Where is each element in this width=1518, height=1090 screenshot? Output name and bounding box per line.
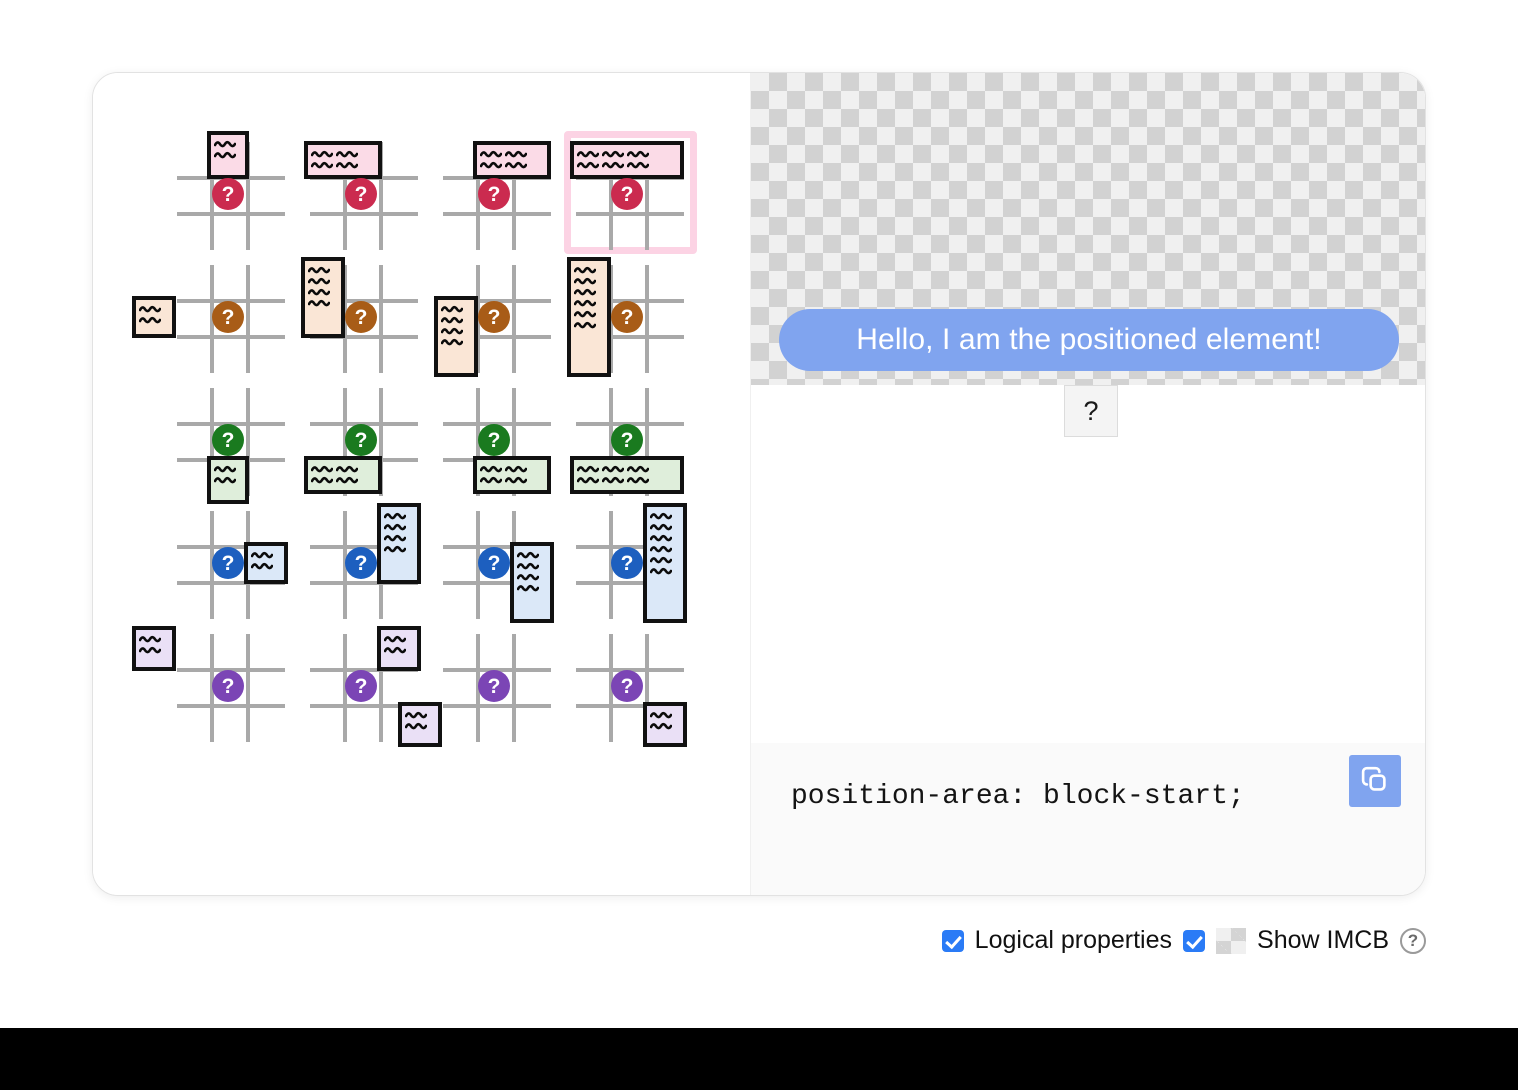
anchor-marker-icon: ? [345, 301, 377, 333]
squiggle-row [574, 265, 596, 275]
squiggle-row [308, 265, 330, 275]
squiggle-row [311, 149, 358, 159]
squiggle-row [308, 298, 330, 308]
squiggle-icon [384, 645, 406, 655]
squiggle-icon [311, 149, 333, 159]
squiggle-icon [139, 634, 161, 644]
picker-row-blue: ???? [165, 500, 697, 623]
squiggle-icon [627, 160, 649, 170]
squiggle-icon [139, 315, 161, 325]
element-box [301, 257, 345, 338]
element-box [207, 456, 249, 504]
element-box [510, 542, 554, 623]
squiggle-icon [336, 475, 358, 485]
squiggle-icon [517, 550, 539, 560]
squiggle-icon [505, 149, 527, 159]
picker-cell-diagram: ? [438, 138, 557, 247]
logical-properties-control[interactable]: Logical properties [942, 926, 1172, 955]
picker-cell-diagram: ? [571, 507, 690, 616]
anchor-marker-icon: ? [611, 670, 643, 702]
copy-icon [1360, 765, 1390, 798]
picker-cell-diagram: ? [305, 384, 424, 493]
squiggle-icon [517, 572, 539, 582]
picker-cell-block-end-span-inline-end[interactable]: ? [431, 377, 564, 500]
anchor-marker-icon: ? [345, 547, 377, 579]
squiggle-icon [214, 464, 236, 474]
squiggle-row [574, 309, 596, 319]
picker-cell-end-start[interactable]: ? [431, 623, 564, 746]
squiggle-row [251, 550, 273, 560]
squiggle-icon [384, 544, 406, 554]
squiggle-icon [336, 160, 358, 170]
grid-line [246, 265, 250, 373]
squiggle-row [384, 533, 406, 543]
anchor-marker-icon: ? [478, 547, 510, 579]
squiggle-row [441, 326, 463, 336]
picker-cell-diagram: ? [571, 138, 690, 247]
picker-cell-diagram: ? [571, 384, 690, 493]
squiggle-row [574, 320, 596, 330]
squiggle-row [517, 550, 539, 560]
squiggle-row [405, 710, 427, 720]
squiggle-icon [139, 304, 161, 314]
anchor-marker-icon: ? [212, 178, 244, 210]
squiggle-icon [577, 160, 599, 170]
picker-cell-diagram: ? [438, 384, 557, 493]
picker-row-crimson: ???? [165, 131, 697, 254]
squiggle-row [308, 287, 330, 297]
picker-cell-diagram: ? [571, 630, 690, 739]
squiggle-row [577, 475, 649, 485]
squiggle-row [214, 464, 236, 474]
grid-line [177, 704, 285, 708]
squiggle-icon [505, 160, 527, 170]
element-box [643, 503, 687, 623]
squiggle-icon [574, 309, 596, 319]
squiggle-row [384, 645, 406, 655]
squiggle-icon [577, 475, 599, 485]
squiggle-row [577, 464, 649, 474]
squiggle-icon [251, 561, 273, 571]
picker-cell-diagram: ? [172, 261, 291, 370]
anchor-marker-icon: ? [611, 178, 643, 210]
squiggle-row [480, 475, 527, 485]
positioned-element-bubble: Hello, I am the positioned element! [779, 309, 1399, 371]
squiggle-icon [650, 721, 672, 731]
anchor-marker-icon: ? [478, 670, 510, 702]
squiggle-icon [336, 149, 358, 159]
squiggle-icon [574, 265, 596, 275]
controls-bar: Logical properties Show IMCB ? [942, 926, 1426, 955]
picker-cell-block-start[interactable]: ? [564, 131, 697, 254]
grid-line [310, 212, 418, 216]
picker-cell-inline-end[interactable]: ? [564, 500, 697, 623]
squiggle-icon [308, 265, 330, 275]
grid-line [379, 265, 383, 373]
picker-cell-diagram: ? [571, 261, 690, 370]
squiggle-row [650, 566, 672, 576]
preview-panel: Hello, I am the positioned element! ? po… [751, 73, 1425, 895]
squiggle-icon [650, 544, 672, 554]
squiggle-icon [650, 533, 672, 543]
squiggle-row [139, 315, 161, 325]
squiggle-icon [441, 337, 463, 347]
squiggle-row [517, 561, 539, 571]
squiggle-icon [480, 475, 502, 485]
element-box [473, 456, 551, 494]
squiggle-icon [602, 149, 624, 159]
squiggle-icon [441, 326, 463, 336]
anchor-marker-icon: ? [345, 424, 377, 456]
picker-cell-inline-end-span-block-start[interactable]: ? [298, 500, 431, 623]
squiggle-icon [311, 160, 333, 170]
squiggle-row [480, 149, 527, 159]
squiggle-row [311, 160, 358, 170]
element-box [207, 131, 249, 179]
grid-line [512, 634, 516, 742]
element-box [434, 296, 478, 377]
element-box [244, 542, 288, 584]
code-output-panel: position-area: block-start; [751, 743, 1425, 895]
squiggle-row [517, 583, 539, 593]
squiggle-icon [308, 276, 330, 286]
picker-cell-diagram: ? [172, 507, 291, 616]
element-box [398, 702, 442, 747]
element-box [643, 702, 687, 747]
checkbox-checked-icon[interactable] [1183, 930, 1205, 952]
picker-cell-inline-end-span-y-start[interactable]: ? [165, 500, 298, 623]
squiggle-icon [517, 583, 539, 593]
grid-line [443, 704, 551, 708]
css-declaration-text: position-area: block-start; [791, 781, 1245, 812]
picker-cell-inline-end-span-block-end[interactable]: ? [431, 500, 564, 623]
element-box [473, 141, 551, 179]
squiggle-icon [311, 464, 333, 474]
squiggle-icon [480, 149, 502, 159]
picker-cell-start-start[interactable]: ? [165, 623, 298, 746]
picker-cell-diagram: ? [438, 630, 557, 739]
squiggle-icon [384, 522, 406, 532]
logical-properties-label: Logical properties [975, 926, 1172, 955]
picker-cell-diagram: ? [172, 384, 291, 493]
squiggle-icon [505, 475, 527, 485]
squiggle-icon [574, 276, 596, 286]
picker-cell-block-start-span-inline-end[interactable]: ? [431, 131, 564, 254]
picker-cell-diagram: ? [438, 507, 557, 616]
squiggle-row [650, 710, 672, 720]
squiggle-icon [627, 475, 649, 485]
element-box [567, 257, 611, 377]
squiggle-row [384, 634, 406, 644]
squiggle-icon [602, 160, 624, 170]
checkerboard-swatch-icon [1216, 928, 1246, 954]
element-box [570, 456, 684, 494]
squiggle-row [384, 544, 406, 554]
anchor-marker-icon: ? [212, 670, 244, 702]
squiggle-row [139, 634, 161, 644]
squiggle-row [574, 276, 596, 286]
squiggle-icon [577, 464, 599, 474]
anchor-marker-icon: ? [212, 424, 244, 456]
squiggle-icon [574, 298, 596, 308]
show-imcb-control[interactable]: Show IMCB [1183, 926, 1389, 955]
preview-canvas: Hello, I am the positioned element! [751, 73, 1425, 385]
picker-cell-diagram: ? [172, 138, 291, 247]
squiggle-row [574, 298, 596, 308]
squiggle-icon [311, 475, 333, 485]
squiggle-icon [308, 298, 330, 308]
element-box [377, 503, 421, 584]
squiggle-icon [384, 634, 406, 644]
checkbox-checked-icon[interactable] [942, 930, 964, 952]
element-box [570, 141, 684, 179]
squiggle-row [308, 276, 330, 286]
picker-cell-block-start-span-x-start[interactable]: ? [165, 131, 298, 254]
squiggle-row [480, 160, 527, 170]
squiggle-icon [574, 320, 596, 330]
picker-cell-diagram: ? [305, 261, 424, 370]
picker-cell-block-end-span-inline-start[interactable]: ? [298, 377, 431, 500]
squiggle-row [311, 464, 358, 474]
squiggle-row [650, 511, 672, 521]
squiggle-icon [308, 287, 330, 297]
anchor-marker-icon: ? [212, 547, 244, 579]
squiggle-icon [405, 710, 427, 720]
squiggle-icon [405, 721, 427, 731]
squiggle-icon [214, 139, 236, 149]
anchor-marker-icon: ? [611, 547, 643, 579]
squiggle-icon [577, 149, 599, 159]
squiggle-row [384, 522, 406, 532]
squiggle-icon [384, 533, 406, 543]
squiggle-row [650, 533, 672, 543]
element-box [304, 456, 382, 494]
squiggle-icon [214, 150, 236, 160]
grid-line [246, 634, 250, 742]
picker-row-purple: ???? [165, 623, 697, 746]
anchor-marker-icon: ? [611, 301, 643, 333]
copy-button[interactable] [1349, 755, 1401, 807]
squiggle-icon [574, 287, 596, 297]
squiggle-row [384, 511, 406, 521]
squiggle-icon [384, 511, 406, 521]
picker-row-green: ???? [165, 377, 697, 500]
squiggle-row [577, 160, 649, 170]
element-box [132, 626, 176, 671]
anchor-marker-icon: ? [212, 301, 244, 333]
grid-line [443, 212, 551, 216]
squiggle-row [577, 149, 649, 159]
squiggle-row [650, 721, 672, 731]
picker-cell-block-end[interactable]: ? [564, 377, 697, 500]
squiggle-row [441, 304, 463, 314]
squiggle-icon [251, 550, 273, 560]
anchor-marker-icon: ? [611, 424, 643, 456]
squiggle-icon [517, 561, 539, 571]
squiggle-icon [650, 522, 672, 532]
anchor-marker-icon: ? [478, 178, 510, 210]
help-circle-icon[interactable]: ? [1400, 928, 1426, 954]
position-area-picker-panel: ???????????????????? [93, 73, 751, 895]
squiggle-row [650, 555, 672, 565]
squiggle-row [441, 337, 463, 347]
squiggle-row [650, 544, 672, 554]
picker-cell-end-end[interactable]: ? [564, 623, 697, 746]
picker-cell-diagram: ? [305, 507, 424, 616]
squiggle-icon [650, 710, 672, 720]
squiggle-row [311, 475, 358, 485]
picker-cell-inline-start[interactable]: ? [564, 254, 697, 377]
squiggle-row [405, 721, 427, 731]
grid-line [576, 212, 684, 216]
squiggle-row [517, 572, 539, 582]
squiggle-icon [650, 555, 672, 565]
squiggle-icon [480, 160, 502, 170]
anchor-marker-icon: ? [345, 178, 377, 210]
anchor-element-chip[interactable]: ? [1064, 385, 1118, 437]
squiggle-row [650, 522, 672, 532]
picker-cell-block-start-span-inline-start[interactable]: ? [298, 131, 431, 254]
squiggle-icon [602, 464, 624, 474]
squiggle-row [251, 561, 273, 571]
picker-cell-inline-start-span-block-start[interactable]: ? [298, 254, 431, 377]
picker-cell-diagram: ? [438, 261, 557, 370]
picker-cell-inline-start-span-block-end[interactable]: ? [431, 254, 564, 377]
footer-bar [0, 1028, 1518, 1090]
picker-cell-diagram: ? [172, 630, 291, 739]
element-box [132, 296, 176, 338]
grid-line [177, 212, 285, 216]
picker-cell-block-end-span-x-start[interactable]: ? [165, 377, 298, 500]
anchor-marker-icon: ? [478, 424, 510, 456]
squiggle-row [214, 475, 236, 485]
squiggle-icon [505, 464, 527, 474]
squiggle-row [214, 150, 236, 160]
squiggle-row [574, 287, 596, 297]
grid-line [512, 265, 516, 373]
position-area-picker-grid[interactable]: ???????????????????? [165, 131, 697, 746]
squiggle-icon [627, 149, 649, 159]
squiggle-icon [650, 566, 672, 576]
position-area-card: ???????????????????? Hello, I am the pos… [92, 72, 1426, 896]
squiggle-icon [627, 464, 649, 474]
squiggle-row [480, 464, 527, 474]
squiggle-icon [214, 475, 236, 485]
squiggle-icon [441, 315, 463, 325]
anchor-marker-icon: ? [478, 301, 510, 333]
grid-line [645, 265, 649, 373]
element-box [377, 626, 421, 671]
squiggle-row [139, 304, 161, 314]
picker-row-brown: ???? [165, 254, 697, 377]
grid-line [177, 335, 285, 339]
squiggle-row [214, 139, 236, 149]
squiggle-icon [480, 464, 502, 474]
squiggle-icon [441, 304, 463, 314]
squiggle-icon [602, 475, 624, 485]
squiggle-icon [650, 511, 672, 521]
picker-cell-inline-start-span-y-start[interactable]: ? [165, 254, 298, 377]
squiggle-row [139, 645, 161, 655]
squiggle-icon [139, 645, 161, 655]
element-box [304, 141, 382, 179]
app-root: ???????????????????? Hello, I am the pos… [0, 0, 1518, 1090]
squiggle-icon [336, 464, 358, 474]
squiggle-row [441, 315, 463, 325]
picker-cell-diagram: ? [305, 138, 424, 247]
anchor-marker-icon: ? [345, 670, 377, 702]
show-imcb-label: Show IMCB [1257, 926, 1389, 955]
